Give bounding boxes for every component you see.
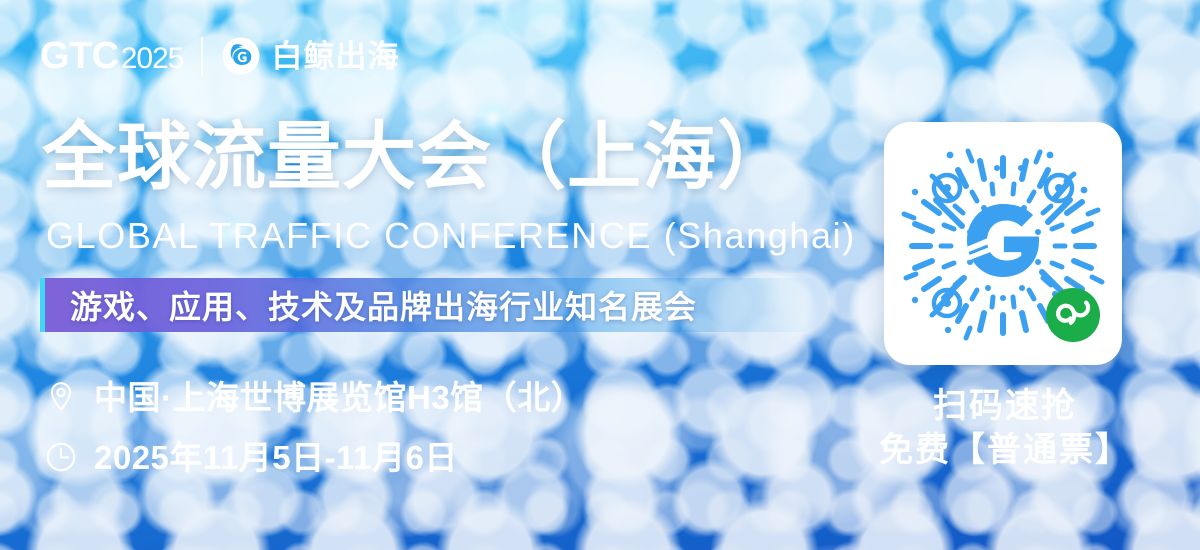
whale-circle-logo-icon	[221, 36, 261, 76]
light-glow	[556, 18, 586, 48]
tagline-accent-bar	[40, 278, 45, 332]
gtc-year-label: 2025	[121, 44, 184, 74]
gtc-logo: GTC 2025	[40, 37, 183, 75]
vertical-divider-icon	[201, 37, 203, 75]
logo-row: GTC 2025 白鲸出海	[40, 30, 399, 82]
page-subtitle-en: GLOBAL TRAFFIC CONFERENCE (Shanghai)	[46, 216, 856, 256]
g-logo-icon	[967, 204, 1039, 277]
date-label: 2025年11月5日-11月6日	[94, 441, 458, 474]
venue-row: 中国·上海世博展览馆H3馆（北）	[44, 380, 584, 414]
tagline-label: 游戏、应用、技术及品牌出海行业知名展会	[70, 282, 697, 328]
partner-name-label: 白鲸出海	[271, 41, 399, 72]
page-title: 全球流量大会（上海）	[42, 116, 792, 197]
location-pin-icon	[44, 380, 78, 414]
qr-cta-line-1: 扫码速抢	[860, 385, 1150, 429]
qr-code-icon[interactable]	[884, 122, 1122, 365]
qr-cta-text: 扫码速抢 免费【普通票】	[860, 385, 1150, 472]
date-row: 2025年11月5日-11月6日	[44, 440, 458, 474]
qr-cta-line-2: 免费【普通票】	[860, 429, 1150, 473]
aurora-streak	[431, 0, 709, 64]
venue-label: 中国·上海世博展览馆H3馆（北）	[94, 381, 584, 414]
tagline-banner: 游戏、应用、技术及品牌出海行业知名展会	[40, 278, 830, 332]
promo-banner: GTC 2025 白鲸出海 全球流量大会（上海） GLOBAL TRAFFIC …	[0, 0, 1200, 550]
partner-logo: 白鲸出海	[221, 36, 399, 76]
qr-code-card[interactable]	[884, 122, 1122, 365]
gtc-wordmark-icon: GTC	[40, 37, 119, 75]
clock-icon	[44, 440, 78, 474]
wechat-miniprogram-badge-icon	[1046, 288, 1100, 342]
